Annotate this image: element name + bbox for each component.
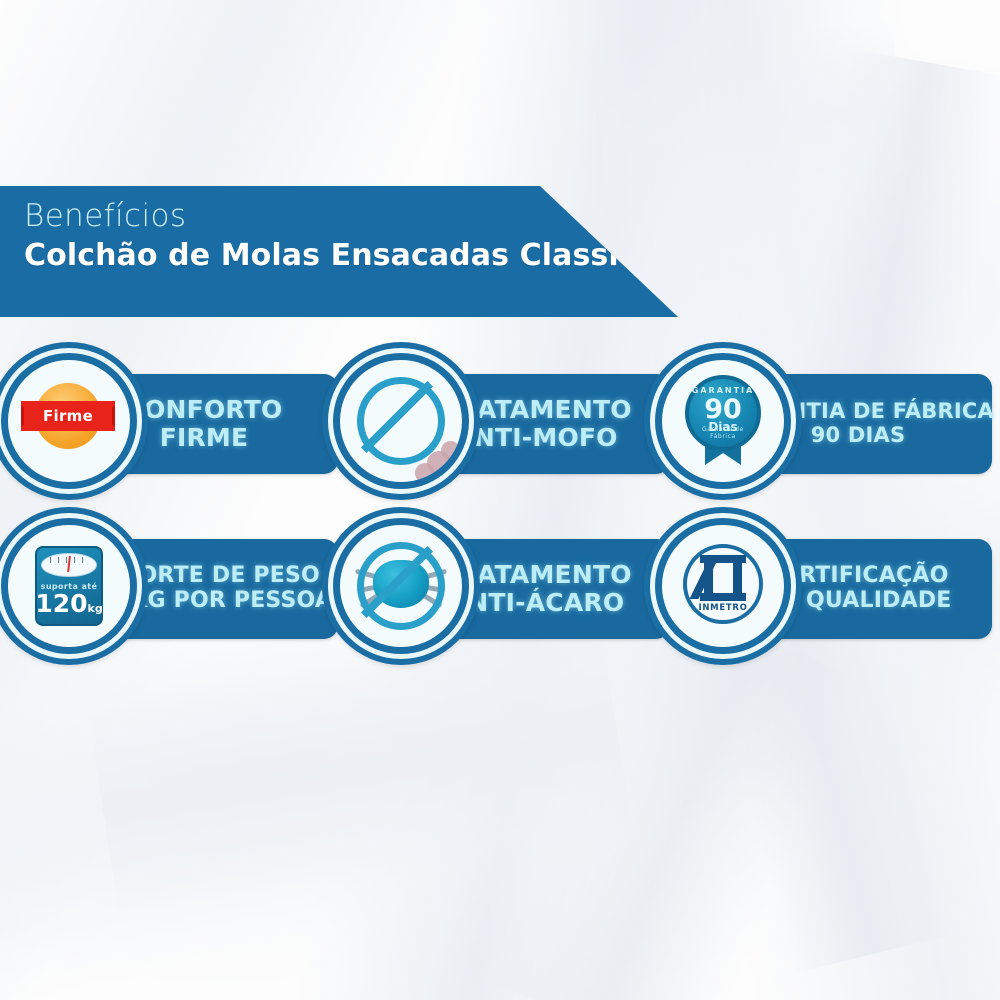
inmetro-wordmark: INMETRO — [698, 603, 747, 613]
icon-inner: Firme — [21, 373, 117, 469]
benefit-label-line2: DE QUALIDADE — [764, 589, 951, 614]
scale-number-value: 120 — [35, 589, 87, 618]
scale-unit: kg — [88, 602, 103, 615]
icon-inner: GARANTIA 90 Dias Garantia de Fábrica — [675, 373, 771, 469]
ribbon-shape: Firme — [21, 401, 115, 431]
benefit-label-line2: FIRME — [160, 424, 249, 452]
benefit-item-garantia[interactable]: GARANTIA DE FÁBRICA 90 DIAS GARANTIA 90 … — [662, 360, 992, 490]
scale-body: suporta até 120kg — [35, 546, 103, 626]
prohibition-circle — [357, 542, 445, 630]
inmetro-n-mark — [698, 555, 748, 601]
benefit-item-certificacao[interactable]: CERTIFICAÇÃO DE QUALIDADE — [662, 525, 992, 655]
header-banner: Benefícios Colchão de Molas Ensacadas Cl… — [0, 186, 700, 317]
seal-bottom-text: Garantia de Fábrica — [689, 426, 757, 440]
fabric-fold — [593, 17, 908, 222]
guarantee-seal-icon: GARANTIA 90 Dias Garantia de Fábrica — [662, 360, 784, 482]
icon-inner — [353, 373, 449, 469]
seal-top-text: GARANTIA — [689, 386, 757, 395]
page-canvas: Benefícios Colchão de Molas Ensacadas Cl… — [0, 0, 1000, 1000]
benefit-item-anti-acaro[interactable]: TRATAMENTO ANTI-ÁCARO — [340, 525, 670, 655]
scale-dial — [41, 553, 97, 577]
weight-scale-icon: suporta até 120kg — [8, 525, 130, 647]
page-title: Colchão de Molas Ensacadas Classic — [24, 237, 637, 275]
benefits-row: SUPORTE DE PESO 120 KG POR PESSOA — [0, 525, 1000, 655]
header-text-block: Benefícios Colchão de Molas Ensacadas Cl… — [24, 200, 637, 275]
benefits-grid: CONFORTO FIRME Firme TRATAMENTO ANTI- — [0, 360, 1000, 655]
firme-ribbon-icon: Firme — [8, 360, 130, 482]
icon-inner: INMETRO — [675, 538, 771, 634]
scale-number: 120kg — [35, 592, 102, 616]
prohibition-circle — [357, 377, 445, 465]
icon-inner — [353, 538, 449, 634]
seal-disc: GARANTIA 90 Dias Garantia de Fábrica — [685, 375, 761, 451]
benefit-label-line1: CERTIFICAÇÃO — [768, 564, 949, 589]
benefit-label-line2: ANTI-MOFO — [454, 424, 617, 452]
benefits-row: CONFORTO FIRME Firme TRATAMENTO ANTI- — [0, 360, 1000, 490]
benefit-label-line1: TRATAMENTO — [440, 396, 631, 424]
benefit-label-line2: ANTI-ÁCARO — [448, 589, 625, 617]
seal-number: 90 — [704, 398, 742, 421]
inmetro-disc: INMETRO — [683, 544, 763, 624]
benefit-item-anti-mofo[interactable]: TRATAMENTO ANTI-MOFO — [340, 360, 670, 490]
benefit-item-suporte-peso[interactable]: SUPORTE DE PESO 120 KG POR PESSOA — [8, 525, 338, 655]
benefit-label-line1: TRATAMENTO — [440, 561, 631, 589]
benefit-item-conforto-firme[interactable]: CONFORTO FIRME Firme — [8, 360, 338, 490]
header-eyebrow: Benefícios — [24, 200, 637, 233]
inmetro-logo-icon: INMETRO — [662, 525, 784, 647]
benefit-label-line1: CONFORTO — [126, 396, 283, 424]
no-dust-mite-icon — [340, 525, 462, 647]
icon-inner: suporta até 120kg — [21, 538, 117, 634]
ribbon-label: Firme — [21, 401, 115, 431]
no-mold-icon — [340, 360, 462, 482]
benefit-label-line2: 90 DIAS — [811, 424, 906, 448]
